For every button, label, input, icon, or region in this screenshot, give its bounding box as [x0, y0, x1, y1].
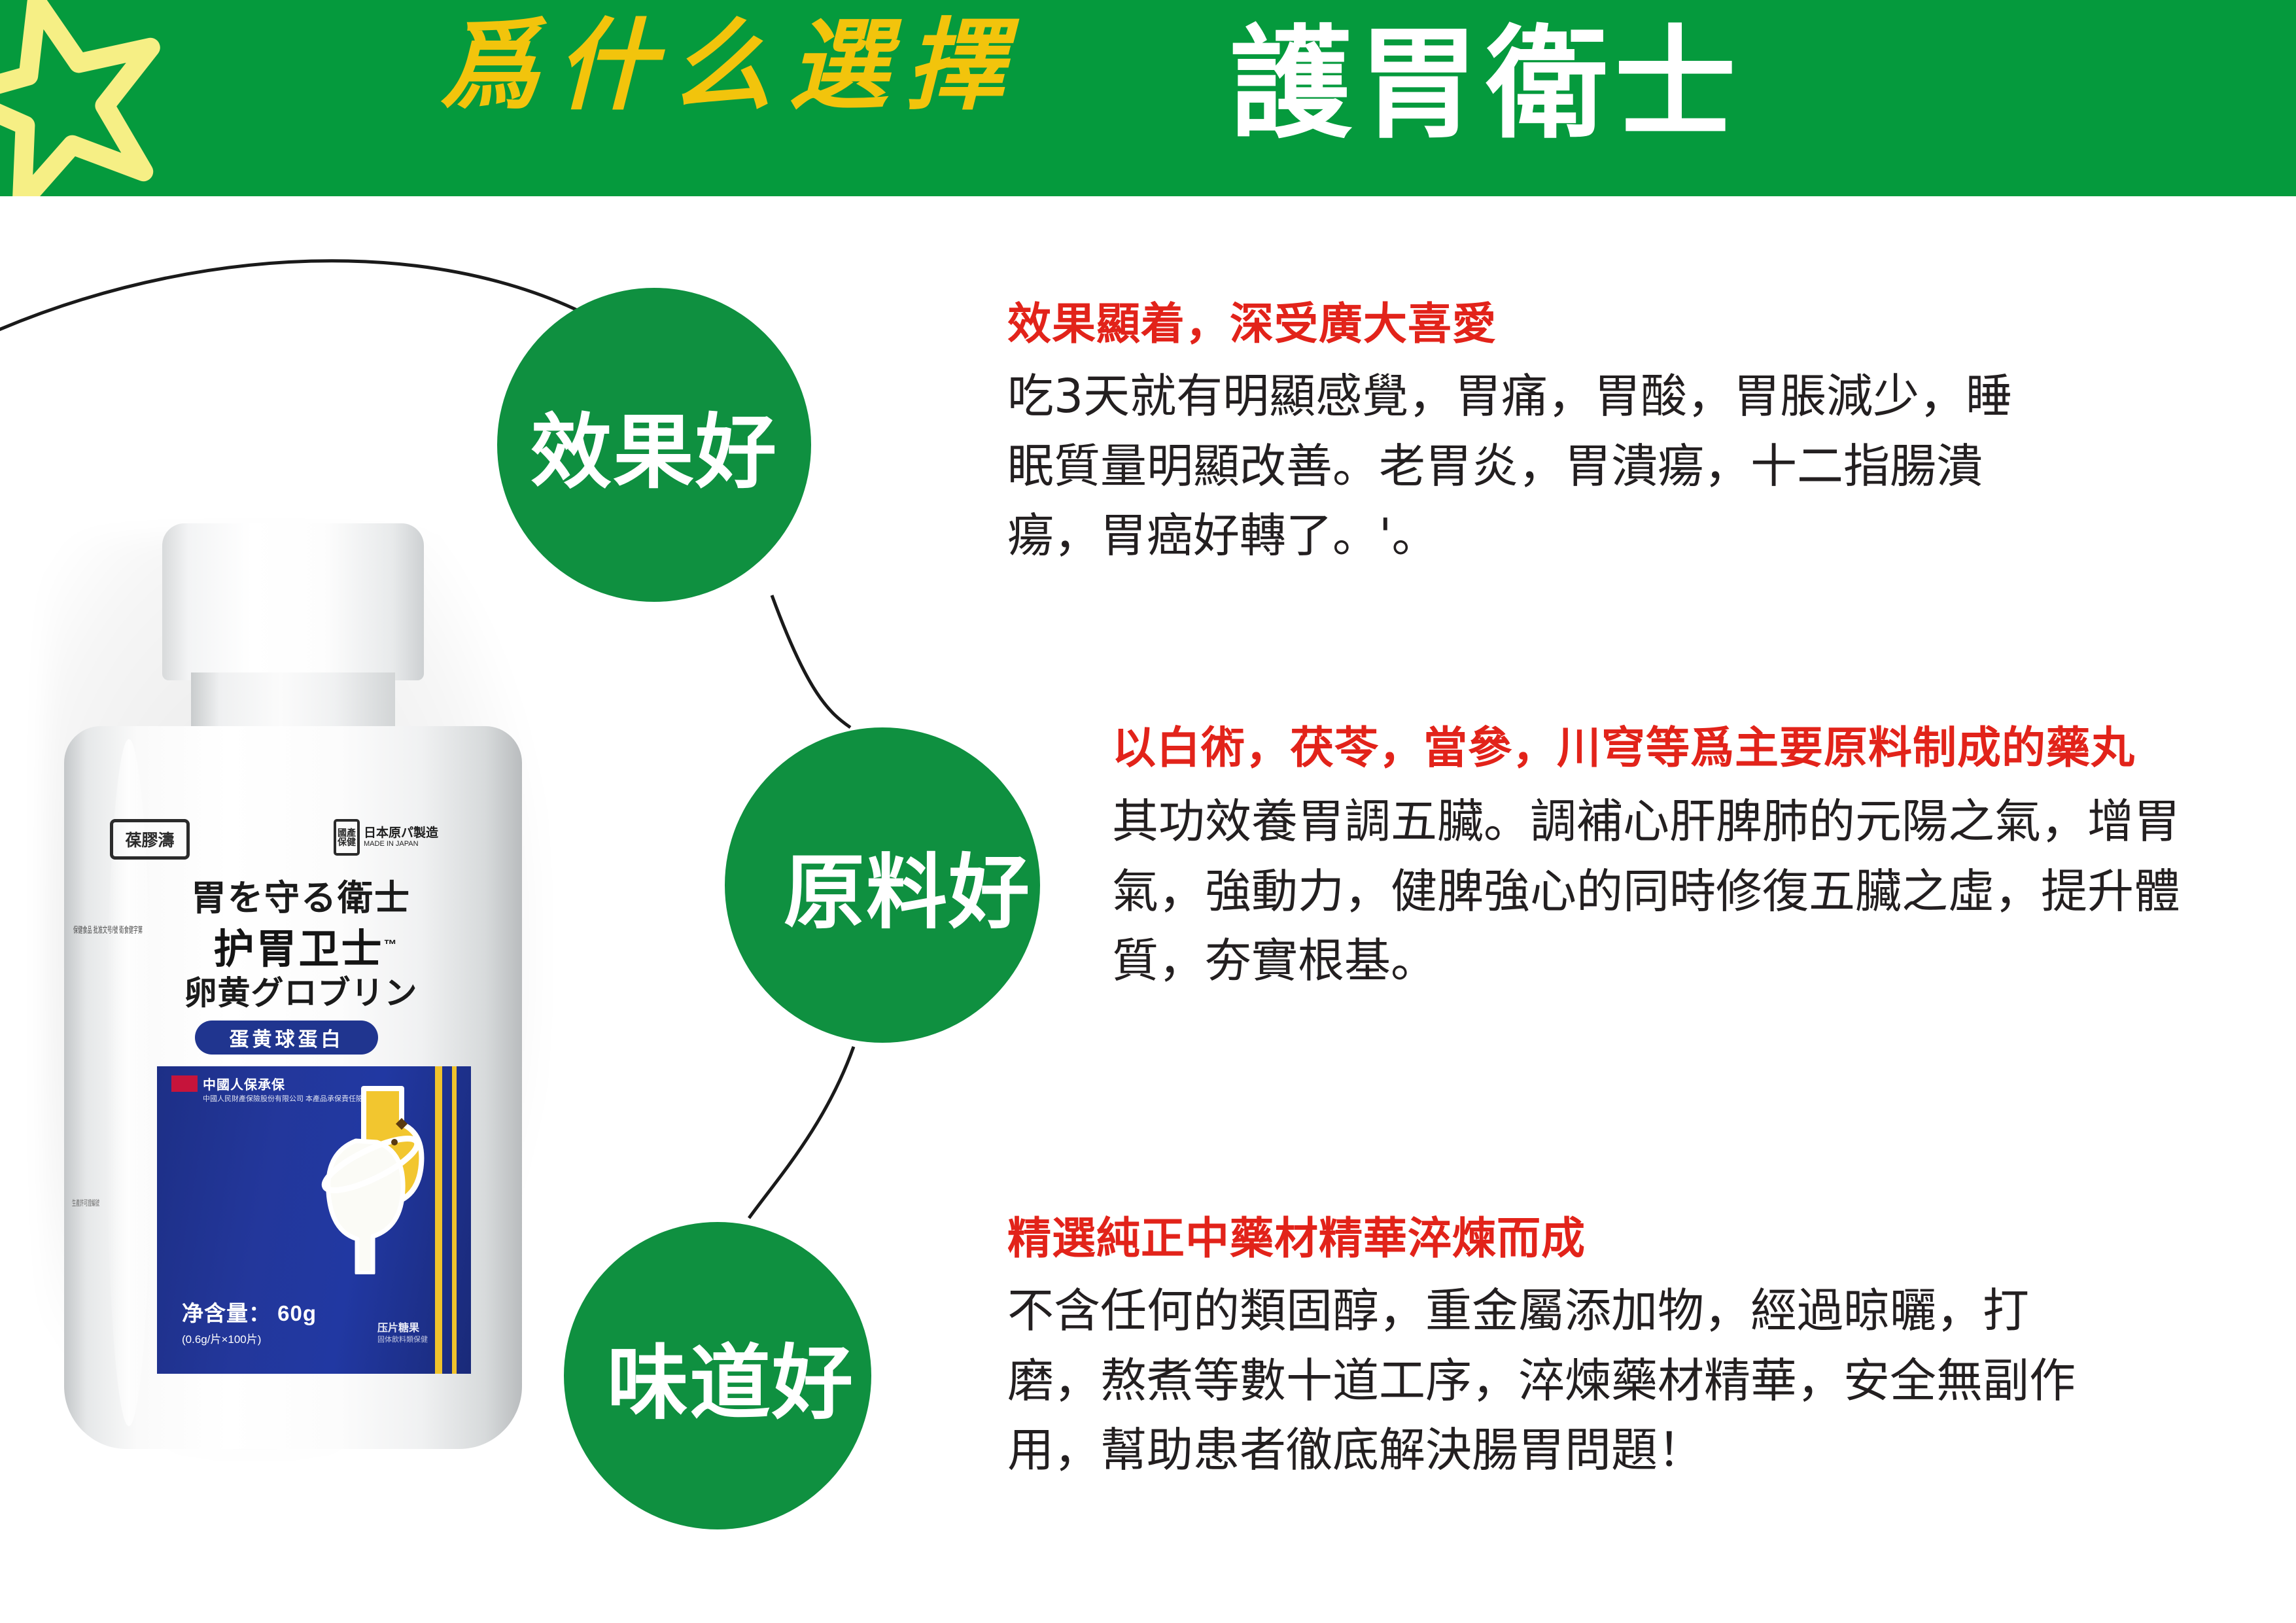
feature-circle-label: 原料好 [784, 826, 1031, 944]
label-stripe-inner [452, 1066, 457, 1374]
net-weight-detail: (0.6g/片×100片) [182, 1330, 317, 1346]
product-name-chinese-text: 护胃卫士 [213, 927, 383, 972]
product-name-chinese: 护胃卫士™ [175, 916, 437, 975]
origin-mark-group: 國產 保健 日本原パ製造 MADE IN JAPAN [334, 816, 445, 858]
bottle-side-microtext: 保健食品 批准文号/號 衛食健字第 [73, 922, 99, 939]
origin-mark-box: 國產 保健 [334, 819, 360, 856]
net-weight: 净含量： 60g (0.6g/片×100片) [182, 1296, 317, 1346]
trademark-symbol: ™ [384, 937, 399, 952]
origin-mark-jp: 日本原パ製造 MADE IN JAPAN [364, 827, 438, 848]
origin-mark-jp-sub: MADE IN JAPAN [364, 840, 438, 848]
feature-body: 不含任何的類固醇，重金屬添加物，經過晾曬，打磨，熬煮等數十道工序，淬煉藥材精華，… [1007, 1276, 2119, 1486]
feature-body: 吃3天就有明顯感覺，胃痛，胃酸，胃脹減少，睡眠質量明顯改善。老胃炎，胃潰瘍，十二… [1007, 362, 2054, 571]
insurance-flag-icon [171, 1075, 198, 1092]
stomach-illustration-icon [309, 1085, 433, 1274]
product-form-note-sub: 固体飲料類保健 [377, 1335, 428, 1345]
label-blue-panel: 中國人保承保 中國人民財產保險股份有限公司 本產品承保責任險 净含量： 60g … [157, 1066, 471, 1374]
feature-headline: 以白術，茯苓，當參，川穹等爲主要原料制成的藥丸 [1112, 720, 2224, 777]
product-form-note-main: 压片糖果 [377, 1323, 419, 1334]
feature-circle-effect[interactable]: 效果好 [497, 288, 811, 602]
feature-body: 其功效養胃調五臟。調補心肝脾肺的元陽之氣，增胃氣，強動力，健脾強心的同時修復五臟… [1112, 787, 2224, 996]
feature-text-block-ingredient: 以白術，茯苓，當參，川穹等爲主要原料制成的藥丸 其功效養胃調五臟。調補心肝脾肺的… [1112, 720, 2224, 996]
product-ingredient-katakana: 卵黄グロブリン [144, 967, 458, 1014]
product-name-japanese: 胃を守る衛士 [157, 869, 445, 920]
feature-text-block-taste: 精選純正中藥材精華淬煉而成 不含任何的類固醇，重金屬添加物，經過晾曬，打磨，熬煮… [1007, 1210, 2119, 1486]
feature-headline: 精選純正中藥材精華淬煉而成 [1007, 1210, 2119, 1267]
certification-mark: 葆膠濤 [110, 819, 190, 860]
insurance-label-main: 中國人保承保 [203, 1078, 285, 1092]
feature-text-block-effect: 效果顯着，深受廣大喜愛 吃3天就有明顯感覺，胃痛，胃酸，胃脹減少，睡眠質量明顯改… [1007, 296, 2054, 571]
bottle-cap [162, 523, 424, 680]
net-weight-value: 净含量： 60g [182, 1301, 317, 1325]
page-header: 爲什么選擇 護胃衛士 [0, 0, 2296, 196]
product-ingredient-badge: 蛋黄球蛋白 [195, 1021, 378, 1055]
product-form-note: 压片糖果 固体飲料類保健 [377, 1321, 428, 1345]
bottle-side-microtext-2: 生產許可證編號 [72, 1197, 98, 1210]
header-subtitle: 爲什么選擇 [440, 16, 1022, 115]
star-outline-icon [0, 0, 169, 196]
feature-headline: 效果顯着，深受廣大喜愛 [1007, 296, 2054, 353]
feature-circle-label: 效果好 [531, 386, 778, 504]
product-bottle-image: 葆膠濤 國產 保健 日本原パ製造 MADE IN JAPAN 胃を守る衛士 护胃… [46, 523, 543, 1465]
feature-circle-label: 味道好 [607, 1317, 854, 1435]
label-stripe-outer [435, 1066, 442, 1374]
feature-circle-taste[interactable]: 味道好 [564, 1222, 871, 1529]
origin-mark-jp-main: 日本原パ製造 [364, 826, 438, 840]
page-title: 護胃衛士 [1230, 5, 1743, 164]
feature-circle-ingredient[interactable]: 原料好 [725, 727, 1040, 1043]
